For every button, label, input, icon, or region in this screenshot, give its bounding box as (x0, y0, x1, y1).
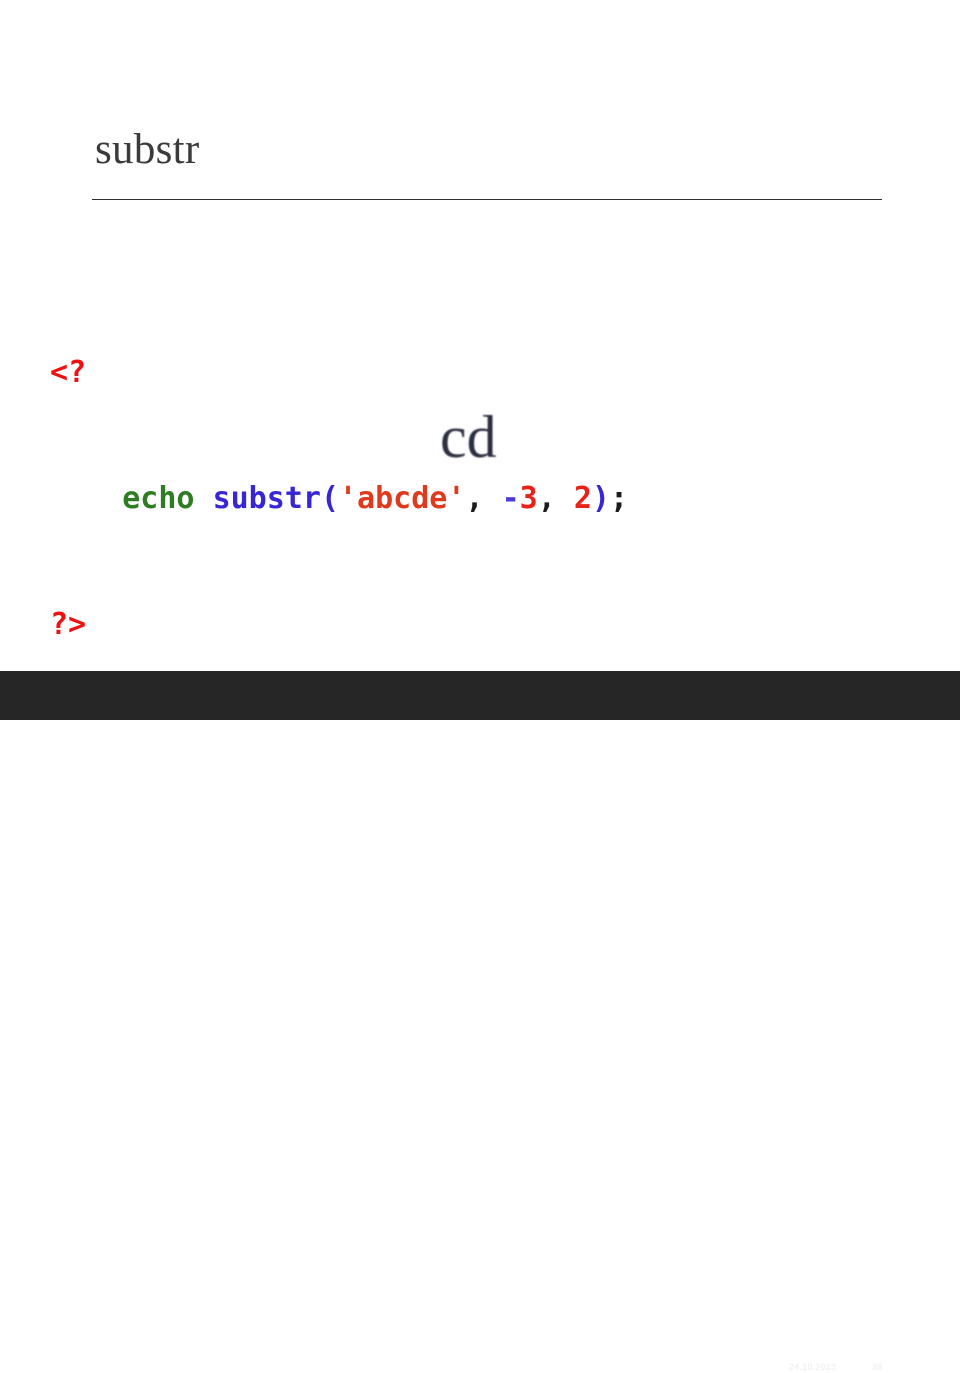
code-token-open-paren: ( (321, 481, 339, 516)
code-token-php-close-tag: ?> (50, 607, 86, 642)
code-line-echo-substr: echo substr('abcde', -3, 2); (50, 478, 628, 520)
code-token-space-1 (195, 481, 213, 516)
php-code-block: <? echo substr('abcde', -3, 2); ?> (50, 268, 628, 730)
footer-page-number: 39 (872, 1361, 882, 1373)
code-token-semicolon: ; (610, 481, 628, 516)
code-line-open-tag: <? (50, 352, 628, 394)
code-token-comma-2: , (538, 481, 556, 516)
slide-footer-bar: 24.10.2023 39 (0, 671, 960, 720)
page-title: substr (95, 124, 200, 176)
code-token-php-open-tag: <? (50, 355, 86, 390)
code-line-close-tag: ?> (50, 604, 628, 646)
code-token-number-2: 2 (574, 481, 592, 516)
code-token-echo: echo (122, 481, 194, 516)
code-token-string-abcde: 'abcde' (339, 481, 465, 516)
code-token-minus-sign: - (502, 481, 520, 516)
presentation-slide: substr <? echo substr('abcde', -3, 2); ?… (0, 0, 960, 720)
code-token-space-3 (556, 481, 574, 516)
code-token-space-2 (484, 481, 502, 516)
code-output-value: cd (440, 404, 497, 470)
title-divider (92, 199, 882, 200)
code-token-comma-1: , (465, 481, 483, 516)
code-token-close-paren: ) (592, 481, 610, 516)
footer-date: 24.10.2023 (789, 1361, 836, 1373)
code-token-number-3: 3 (520, 481, 538, 516)
code-token-substr: substr (213, 481, 321, 516)
code-token-indent (50, 481, 122, 516)
